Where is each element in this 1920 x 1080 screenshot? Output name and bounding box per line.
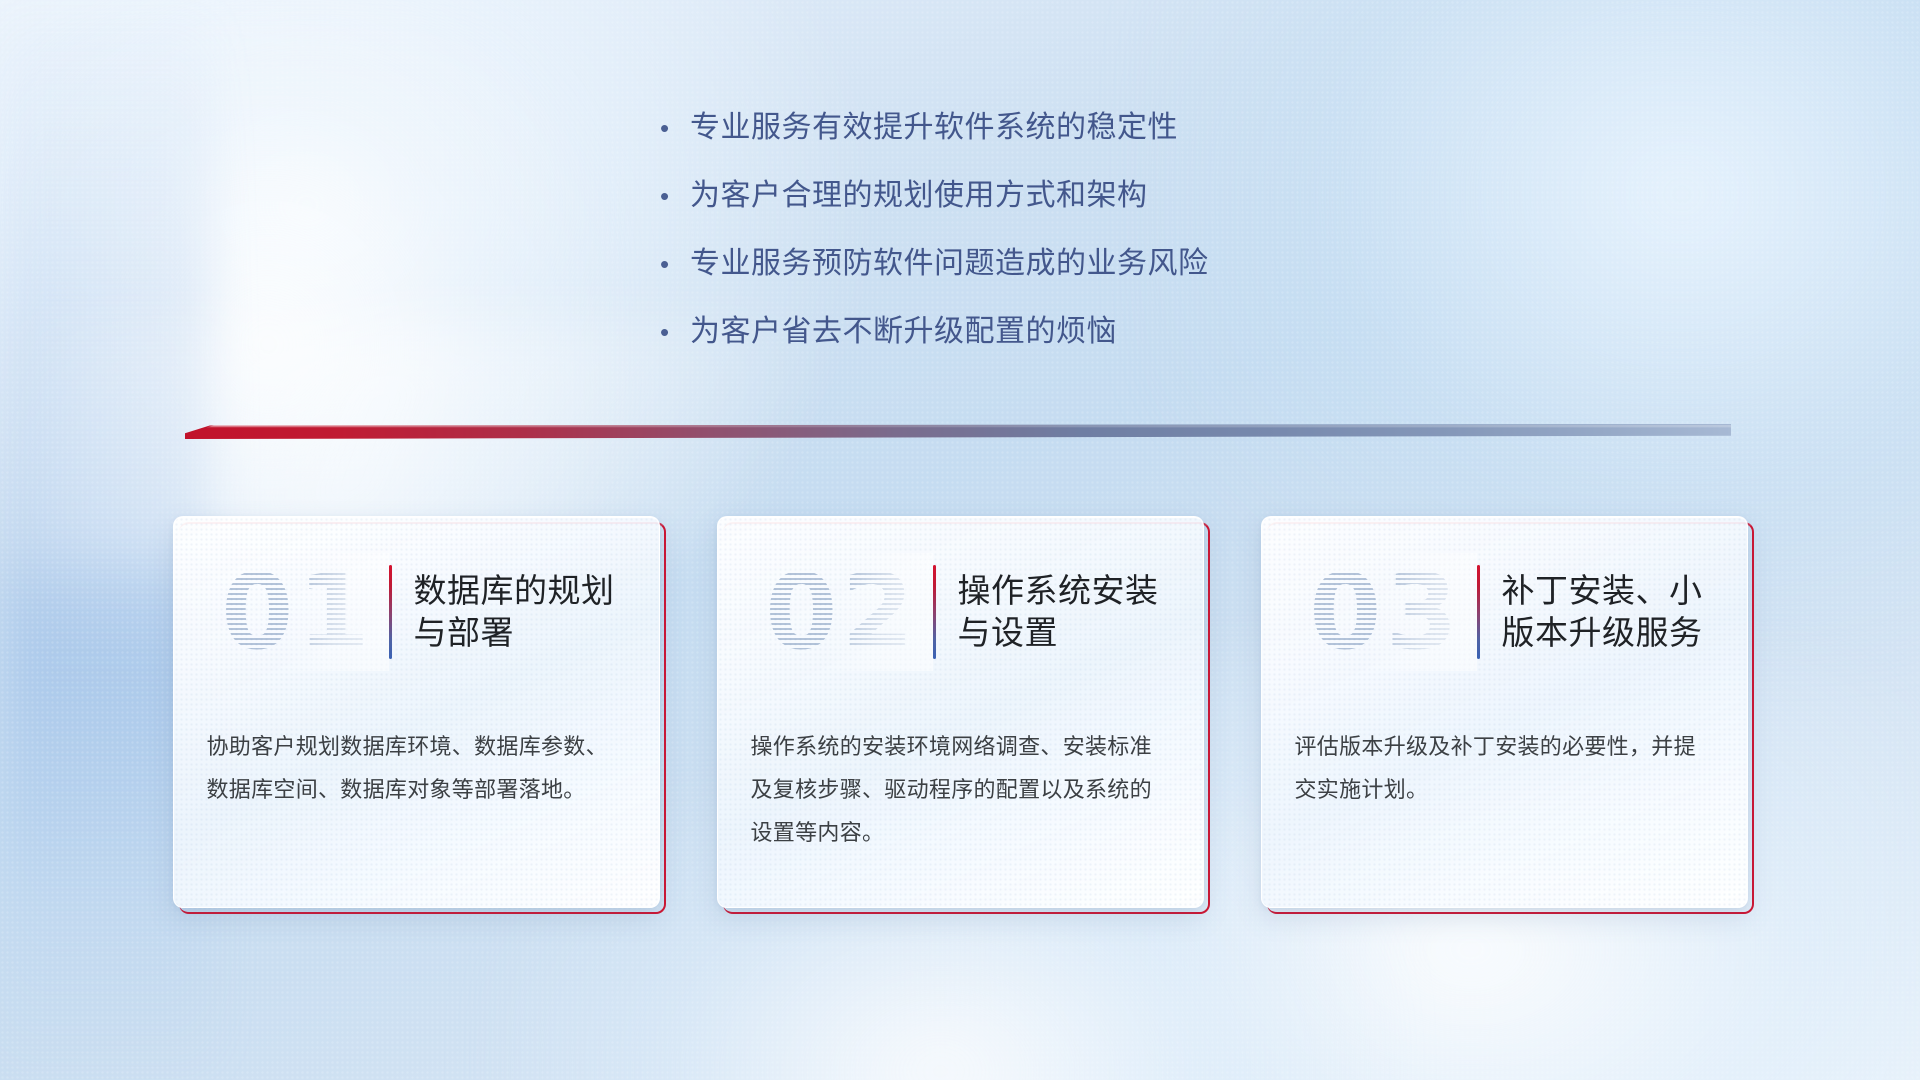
benefits-bullet-list: • 专业服务有效提升软件系统的稳定性 • 为客户合理的规划使用方式和架构 • 专…	[660, 108, 1420, 380]
card-header: 02 操作系统安装与设置	[751, 546, 1170, 678]
list-item: • 为客户省去不断升级配置的烦恼	[660, 312, 1420, 351]
bullet-dot-icon: •	[660, 115, 690, 141]
card-content: 02 操作系统安装与设置 操作系统的安装环境网络调查、安装标准及复核步骤、驱动程…	[717, 516, 1204, 908]
card-title: 补丁安装、小版本升级服务	[1502, 570, 1714, 654]
card-number-watermark: 01	[207, 553, 389, 671]
service-card[interactable]: 02 操作系统安装与设置 操作系统的安装环境网络调查、安装标准及复核步骤、驱动程…	[717, 516, 1204, 908]
bullet-text: 专业服务有效提升软件系统的稳定性	[690, 108, 1178, 147]
card-content: 03 补丁安装、小版本升级服务 评估版本升级及补丁安装的必要性，并提交实施计划。	[1261, 516, 1748, 908]
card-title: 操作系统安装与设置	[958, 570, 1170, 654]
card-header: 03 补丁安装、小版本升级服务	[1295, 546, 1714, 678]
bullet-text: 为客户省去不断升级配置的烦恼	[690, 312, 1117, 351]
service-card[interactable]: 03 补丁安装、小版本升级服务 评估版本升级及补丁安装的必要性，并提交实施计划。	[1261, 516, 1748, 908]
section-divider	[185, 424, 1731, 444]
service-card-list: 01 数据库的规划与部署 协助客户规划数据库环境、数据库参数、数据库空间、数据库…	[0, 516, 1920, 908]
bullet-dot-icon: •	[660, 251, 690, 277]
card-vertical-rule	[933, 565, 936, 659]
card-vertical-rule	[1477, 565, 1480, 659]
card-number-watermark: 02	[751, 553, 933, 671]
card-description: 操作系统的安装环境网络调查、安装标准及复核步骤、驱动程序的配置以及系统的设置等内…	[751, 726, 1170, 855]
bullet-text: 为客户合理的规划使用方式和架构	[690, 176, 1148, 215]
card-content: 01 数据库的规划与部署 协助客户规划数据库环境、数据库参数、数据库空间、数据库…	[173, 516, 660, 908]
bullet-dot-icon: •	[660, 183, 690, 209]
bullet-dot-icon: •	[660, 319, 690, 345]
bullet-text: 专业服务预防软件问题造成的业务风险	[690, 244, 1209, 283]
card-vertical-rule	[389, 565, 392, 659]
list-item: • 专业服务预防软件问题造成的业务风险	[660, 244, 1420, 283]
list-item: • 专业服务有效提升软件系统的稳定性	[660, 108, 1420, 147]
service-card[interactable]: 01 数据库的规划与部署 协助客户规划数据库环境、数据库参数、数据库空间、数据库…	[173, 516, 660, 908]
list-item: • 为客户合理的规划使用方式和架构	[660, 176, 1420, 215]
card-description: 协助客户规划数据库环境、数据库参数、数据库空间、数据库对象等部署落地。	[207, 726, 626, 812]
card-header: 01 数据库的规划与部署	[207, 546, 626, 678]
card-description: 评估版本升级及补丁安装的必要性，并提交实施计划。	[1295, 726, 1714, 812]
card-title: 数据库的规划与部署	[414, 570, 626, 654]
card-number-watermark: 03	[1295, 553, 1477, 671]
